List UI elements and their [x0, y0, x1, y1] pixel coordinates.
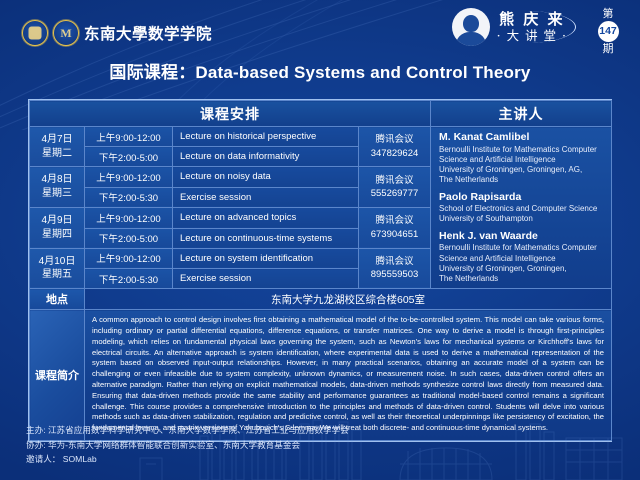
footer-line-2: 协办: 华为-东南大学网络群体智能联合创新实验室、东南大学教育基金会 — [26, 438, 349, 452]
time-cell-2-1: 下午2:00-5:00 — [85, 228, 173, 248]
meeting-label-3: 腾讯会议 — [359, 255, 430, 268]
speaker-name-1: Paolo Rapisarda — [439, 191, 605, 205]
time-cell-0-0: 上午9:00-12:00 — [85, 127, 173, 147]
speaker-2: Henk J. van Waarde Bernoulli Institute f… — [439, 230, 605, 285]
topic-cell-2-1: Lecture on continuous-time systems — [173, 228, 359, 248]
poster-header: 东南大學数学学院 熊 庆 来 · 大 讲 堂 · 第 147 期 — [0, 0, 640, 56]
topic-cell-3-1: Exercise session — [173, 269, 359, 289]
portrait-icon — [452, 8, 490, 46]
header-speakers: 主讲人 — [431, 101, 612, 127]
issue-prefix: 第 — [603, 8, 614, 20]
topic-cell-1-0: Lecture on noisy data — [173, 167, 359, 188]
topic-cell-1-1: Exercise session — [173, 187, 359, 207]
place-value: 东南大学九龙湖校区综合楼605室 — [85, 289, 612, 310]
speakers-cell: M. Kanat Camlibel Bernoulli Institute fo… — [431, 127, 612, 289]
meeting-id-3: 895559503 — [359, 268, 430, 281]
issue-badge: 第 147 期 — [588, 8, 628, 54]
place-label: 地点 — [30, 289, 85, 310]
brand-line-1: 熊 庆 来 — [499, 12, 564, 28]
topic-cell-0-1: Lecture on data informativity — [173, 147, 359, 167]
lecture-poster: 东南大學数学学院 熊 庆 来 · 大 讲 堂 · 第 147 期 国际课程：Da… — [0, 0, 640, 480]
speaker-0: M. Kanat Camlibel Bernoulli Institute fo… — [439, 131, 605, 186]
topic-cell-3-0: Lecture on system identification — [173, 248, 359, 269]
meeting-id-1: 555269777 — [359, 187, 430, 200]
speaker-affiliation-2: Bernoulli Institute for Mathematics Comp… — [439, 243, 605, 284]
time-cell-0-1: 下午2:00-5:00 — [85, 147, 173, 167]
brand-line-2: · 大 讲 堂 · — [497, 29, 567, 42]
date-cell-1: 4月8日星期三 — [30, 167, 85, 208]
time-cell-3-0: 上午9:00-12:00 — [85, 248, 173, 269]
footer-line-3: 邀请人： SOMLab — [26, 452, 349, 466]
meeting-cell-2: 腾讯会议 673904651 — [359, 207, 431, 248]
footer-line-1: 主办: 江苏省应用数学科学研究中心、东南大学数学学院、江苏省工业与应用数学学会 — [26, 423, 349, 437]
time-cell-1-0: 上午9:00-12:00 — [85, 167, 173, 188]
southeast-university-seal-icon — [22, 20, 48, 46]
meeting-label-1: 腾讯会议 — [359, 174, 430, 187]
math-school-seal-icon — [53, 20, 79, 46]
time-cell-1-1: 下午2:00-5:30 — [85, 187, 173, 207]
date-cell-3: 4月10日星期五 — [30, 248, 85, 289]
footer-organizers: 主办: 江苏省应用数学科学研究中心、东南大学数学学院、江苏省工业与应用数学学会 … — [26, 423, 349, 466]
intro-row: 课程简介 A common approach to control design… — [30, 310, 612, 441]
speaker-1: Paolo Rapisarda School of Electronics an… — [439, 191, 605, 225]
place-row: 地点 东南大学九龙湖校区综合楼605室 — [30, 289, 612, 310]
table-row: 4月7日星期二 上午9:00-12:00 Lecture on historic… — [30, 127, 612, 147]
speaker-name-0: M. Kanat Camlibel — [439, 131, 605, 145]
lecture-series-brand: 熊 庆 来 · 大 讲 堂 · — [452, 8, 576, 46]
school-name: 东南大學数学学院 — [84, 22, 212, 44]
meeting-cell-3: 腾讯会议 895559503 — [359, 248, 431, 289]
issue-number: 147 — [598, 21, 619, 42]
topic-cell-0-0: Lecture on historical perspective — [173, 127, 359, 147]
intro-text: A common approach to control design invo… — [85, 310, 612, 441]
speaker-affiliation-0: Bernoulli Institute for Mathematics Comp… — [439, 145, 605, 186]
schedule-table: 课程安排 主讲人 4月7日星期二 上午9:00-12:00 Lecture on… — [28, 99, 612, 442]
time-cell-2-0: 上午9:00-12:00 — [85, 207, 173, 228]
speaker-affiliation-1: School of Electronics and Computer Scien… — [439, 204, 605, 224]
issue-suffix: 期 — [603, 43, 614, 55]
meeting-id-2: 673904651 — [359, 228, 430, 241]
speaker-name-2: Henk J. van Waarde — [439, 230, 605, 244]
meeting-id-0: 347829624 — [359, 147, 430, 160]
institution-logos: 东南大學数学学院 — [22, 20, 212, 46]
meeting-label-2: 腾讯会议 — [359, 214, 430, 227]
header-schedule: 课程安排 — [30, 101, 431, 127]
date-cell-2: 4月9日星期四 — [30, 207, 85, 248]
topic-cell-2-0: Lecture on advanced topics — [173, 207, 359, 228]
page-title: 国际课程：Data-based Systems and Control Theo… — [0, 58, 640, 83]
date-cell-0: 4月7日星期二 — [30, 127, 85, 167]
table-header-row: 课程安排 主讲人 — [30, 101, 612, 127]
meeting-label-0: 腾讯会议 — [359, 133, 430, 146]
meeting-cell-1: 腾讯会议 555269777 — [359, 167, 431, 208]
time-cell-3-1: 下午2:00-5:30 — [85, 269, 173, 289]
meeting-cell-0: 腾讯会议 347829624 — [359, 127, 431, 167]
intro-label: 课程简介 — [30, 310, 85, 441]
